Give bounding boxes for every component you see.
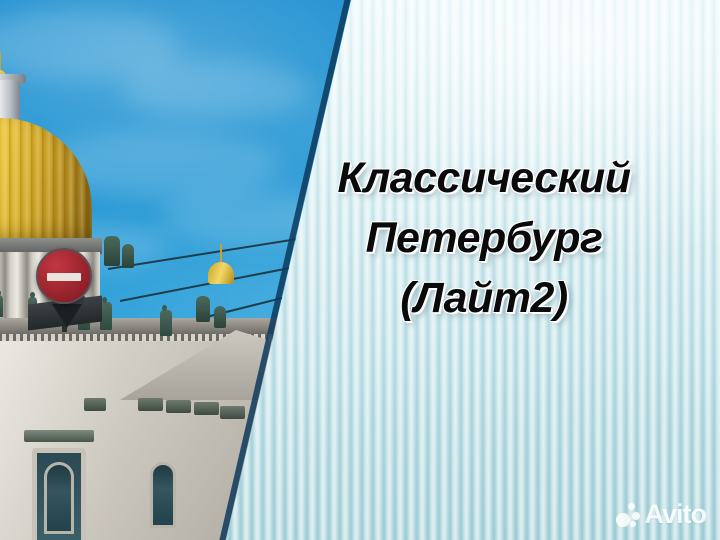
- avito-watermark: Avito: [616, 501, 707, 528]
- title-line-2: Петербург: [258, 208, 710, 268]
- arched-window: [150, 462, 176, 528]
- avito-logo-icon: [616, 503, 640, 527]
- no-entry-sign-icon: [36, 248, 92, 304]
- angel-statue: [122, 244, 134, 268]
- angel-statue: [214, 306, 226, 328]
- down-arrow-icon: [52, 304, 82, 328]
- arched-window: [44, 462, 74, 534]
- roof-statue: [0, 295, 3, 317]
- page-title: Классический Петербург (Лайт2): [258, 148, 710, 328]
- cupola-spire: [220, 244, 222, 264]
- angel-statue: [104, 236, 120, 266]
- golden-dome: [0, 118, 92, 246]
- angel-statue: [196, 296, 210, 322]
- pilaster-capital: [84, 398, 106, 411]
- listing-cover-image: Классический Петербург (Лайт2) Avito: [0, 0, 720, 540]
- window-pediment: [24, 430, 94, 442]
- title-line-3: (Лайт2): [258, 268, 710, 328]
- granite-column: [197, 414, 216, 540]
- avito-wordmark: Avito: [645, 501, 707, 528]
- attic-statue: [160, 310, 172, 336]
- title-line-1: Классический: [258, 148, 710, 208]
